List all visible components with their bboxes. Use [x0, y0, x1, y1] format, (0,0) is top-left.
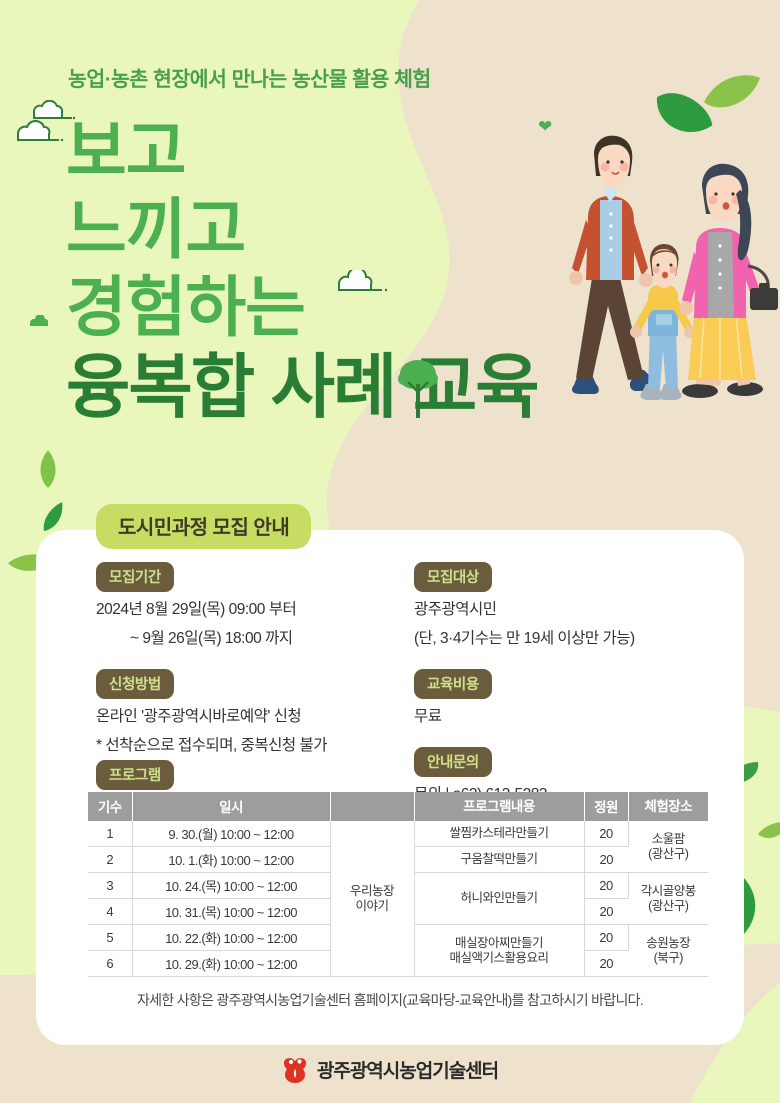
headline-line-3: 경험하는: [66, 268, 626, 346]
cell-no-1: 1: [88, 821, 132, 847]
family-illustration: [548, 128, 780, 413]
target-line-1: 광주광역시민: [414, 599, 744, 621]
cell-program-56: 매실장아찌만들기 매실액기스활용요리: [414, 925, 584, 977]
cell-capacity-2: 20: [584, 847, 628, 873]
place-12-line-2: (광산구): [633, 847, 705, 862]
cell-no-4: 4: [88, 899, 132, 925]
cell-date-3: 10. 24.(목) 10:00 ~ 12:00: [132, 873, 330, 899]
program-label-chip: 프로그램: [96, 760, 174, 790]
info-column-left: 모집기간 2024년 8월 29일(목) 09:00 부터 ~ 9월 26일(목…: [96, 562, 426, 776]
th-program-spacer: [330, 792, 414, 821]
cell-place-34: 각시골양봉 (광산구): [628, 873, 708, 925]
leaf-icon-3: [36, 450, 60, 488]
period-line-1: 2024년 8월 29일(목) 09:00 부터: [96, 599, 426, 621]
leaf-icon-7: [758, 820, 780, 842]
program-56-line-1: 매실장아찌만들기: [419, 936, 580, 951]
figure-mother: [679, 164, 778, 398]
cloud-icon-4: [28, 315, 54, 327]
method-line-1: 온라인 '광주광역시바로예약' 신청: [96, 706, 426, 728]
info-column-right: 모집대상 광주광역시민 (단, 3·4기수는 만 19세 이상만 가능) 교육비…: [414, 562, 744, 825]
poster-root: ❤ 농업·농촌 현장에서 만나는 농산물 활용 체험 보고 느끼고 경험하는 융…: [0, 0, 780, 1103]
place-56-line-1: 송원농장: [633, 936, 705, 951]
cell-program-1: 쌀찜카스테라만들기: [414, 821, 584, 847]
headline-line-4: 융복합 사례 교육: [66, 346, 626, 428]
field-method: 신청방법 온라인 '광주광역시바로예약' 신청 * 선착순으로 접수되며, 중복…: [96, 669, 426, 757]
contact-label-chip: 안내문의: [414, 747, 492, 777]
program-56-line-2: 매실액기스활용요리: [419, 951, 580, 966]
footer-logo: 광주광역시농업기술센터: [0, 1055, 780, 1083]
theme-line-2: 이야기: [335, 899, 410, 914]
cloud-icon-2: [12, 120, 64, 144]
cell-program-34: 허니와인만들기: [414, 873, 584, 925]
cell-place-56: 송원농장 (북구): [628, 925, 708, 977]
table-row: 1 9. 30.(월) 10:00 ~ 12:00 우리농장 이야기 쌀찜카스테…: [88, 821, 708, 847]
th-program: 프로그램내용: [414, 792, 584, 821]
headline: 보고 느끼고 경험하는 융복합 사례 교육: [66, 112, 626, 428]
cost-line-1: 무료: [414, 706, 744, 728]
program-label-wrap: 프로그램: [96, 760, 174, 790]
cell-place-12: 소울팜 (광산구): [628, 821, 708, 873]
cost-label-chip: 교육비용: [414, 669, 492, 699]
field-cost: 교육비용 무료: [414, 669, 744, 728]
cell-capacity-1: 20: [584, 821, 628, 847]
headline-line-1: 보고: [66, 112, 626, 190]
cell-capacity-4: 20: [584, 899, 628, 925]
cell-date-6: 10. 29.(화) 10:00 ~ 12:00: [132, 951, 330, 977]
theme-line-1: 우리농장: [335, 884, 410, 899]
info-card: 모집기간 2024년 8월 29일(목) 09:00 부터 ~ 9월 26일(목…: [36, 530, 744, 1045]
cell-program-2: 구움찰떡만들기: [414, 847, 584, 873]
target-label-chip: 모집대상: [414, 562, 492, 592]
cell-no-6: 6: [88, 951, 132, 977]
footer-note: 자세한 사항은 광주광역시농업기술센터 홈페이지(교육마당-교육안내)를 참고하…: [36, 990, 744, 1010]
th-place: 체험장소: [628, 792, 708, 821]
place-56-line-2: (북구): [633, 951, 705, 966]
leaf-icon-4: [40, 500, 64, 532]
method-line-2: * 선착순으로 접수되며, 중복신청 불가: [96, 735, 426, 757]
th-number: 기수: [88, 792, 132, 821]
cell-capacity-3: 20: [584, 873, 628, 899]
organization-name: 광주광역시농업기술센터: [317, 1056, 498, 1083]
target-line-2: (단, 3·4기수는 만 19세 이상만 가능): [414, 628, 744, 650]
field-target: 모집대상 광주광역시민 (단, 3·4기수는 만 19세 이상만 가능): [414, 562, 744, 650]
cell-capacity-5: 20: [584, 925, 628, 951]
period-label-chip: 모집기간: [96, 562, 174, 592]
cell-no-2: 2: [88, 847, 132, 873]
cell-theme: 우리농장 이야기: [330, 821, 414, 977]
period-line-2: ~ 9월 26일(목) 18:00 까지: [96, 628, 426, 650]
method-label-chip: 신청방법: [96, 669, 174, 699]
kicker-text: 농업·농촌 현장에서 만나는 농산물 활용 체험: [68, 62, 431, 92]
figure-father: [569, 136, 656, 394]
place-34-line-1: 각시골양봉: [633, 884, 705, 899]
tree-icon: [396, 358, 440, 420]
th-datetime: 일시: [132, 792, 330, 821]
program-table: 기수 일시 프로그램내용 정원 체험장소 1 9. 30.(월) 10:00 ~…: [88, 792, 708, 977]
cell-no-3: 3: [88, 873, 132, 899]
flower-logo-icon: [282, 1055, 308, 1083]
cell-date-4: 10. 31.(목) 10:00 ~ 12:00: [132, 899, 330, 925]
section-title-pill: 도시민과정 모집 안내: [96, 504, 311, 549]
th-capacity: 정원: [584, 792, 628, 821]
cell-date-1: 9. 30.(월) 10:00 ~ 12:00: [132, 821, 330, 847]
cell-date-5: 10. 22.(화) 10:00 ~ 12:00: [132, 925, 330, 951]
cell-capacity-6: 20: [584, 951, 628, 977]
field-period: 모집기간 2024년 8월 29일(목) 09:00 부터 ~ 9월 26일(목…: [96, 562, 426, 650]
table-header-row: 기수 일시 프로그램내용 정원 체험장소: [88, 792, 708, 821]
place-34-line-2: (광산구): [633, 899, 705, 914]
headline-line-2: 느끼고: [66, 190, 626, 268]
cell-date-2: 10. 1.(화) 10:00 ~ 12:00: [132, 847, 330, 873]
place-12-line-1: 소울팜: [633, 832, 705, 847]
program-table-wrap: 기수 일시 프로그램내용 정원 체험장소 1 9. 30.(월) 10:00 ~…: [88, 792, 708, 977]
cell-no-5: 5: [88, 925, 132, 951]
